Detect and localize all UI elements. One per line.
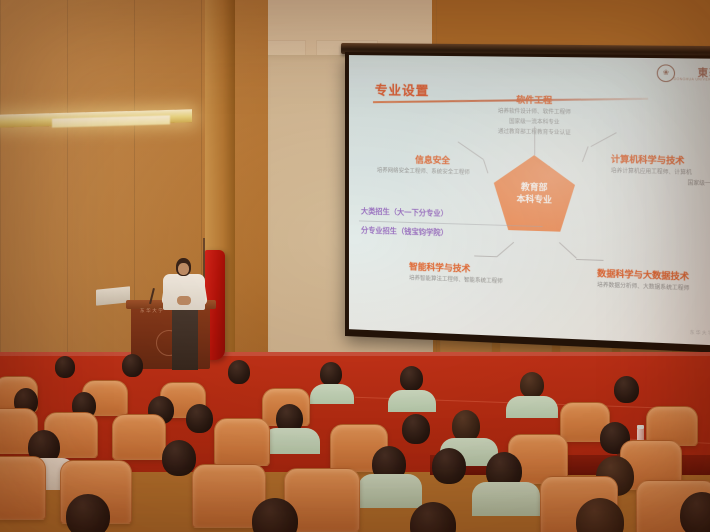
pentagon-line-2: 本科专业 bbox=[517, 193, 552, 207]
speaker-face bbox=[178, 263, 189, 275]
connector-lower-left bbox=[474, 255, 497, 257]
podium-label: 东华大学 bbox=[140, 308, 164, 314]
node-intelligent-science: 智能科学与技术 培养智能算法工程师、智能系统工程师 bbox=[409, 260, 542, 287]
pentagon-line-1: 教育部 bbox=[521, 180, 548, 193]
screen-frame: 专业设置 ❀ 東華 DONGHUA UNIVERSITY 教育部 本科专业 bbox=[345, 52, 710, 353]
audience-head bbox=[162, 440, 196, 476]
connector-lower-right bbox=[559, 242, 577, 258]
speaker-hands bbox=[177, 296, 191, 305]
admission-note-bulk: 大类招生（大一下分专业） bbox=[361, 206, 448, 219]
audience-shoulders bbox=[310, 384, 354, 404]
university-seal-icon: ❀ bbox=[657, 64, 675, 82]
node-desc-line: 培养数据分析师、大数据系统工程师 bbox=[597, 281, 710, 295]
audience-head bbox=[66, 494, 110, 532]
connector-lower-right-arm bbox=[576, 259, 603, 261]
audience-shoulders bbox=[506, 396, 558, 418]
node-computer-science: 计算机科学与技术 培养计算机应用工程师、计算机 国家级一流本科专业 bbox=[611, 153, 710, 190]
audience-seat bbox=[112, 414, 166, 460]
connector-upper-right bbox=[582, 146, 589, 162]
node-desc-line: 培养软件设计师、软件工程师 bbox=[462, 106, 608, 117]
audience-head bbox=[400, 366, 423, 391]
node-title: 计算机科学与技术 bbox=[611, 153, 710, 168]
audience-seat bbox=[214, 418, 270, 466]
node-information-security: 信息安全 培养网络安全工程师、系统安全工程师 bbox=[377, 153, 499, 178]
node-title: 软件工程 bbox=[462, 93, 608, 107]
university-logo-subtitle: DONGHUA UNIVERSITY bbox=[674, 77, 710, 82]
slide-title: 专业设置 bbox=[375, 79, 429, 99]
center-pentagon-node: 教育部 本科专业 bbox=[494, 154, 575, 232]
node-desc-line: 国家级一流本科专业 bbox=[611, 177, 710, 189]
slide-canvas: 专业设置 ❀ 東華 DONGHUA UNIVERSITY 教育部 本科专业 bbox=[349, 55, 710, 346]
projection-screen: 专业设置 ❀ 東華 DONGHUA UNIVERSITY 教育部 本科专业 bbox=[345, 52, 710, 353]
audience-shoulders bbox=[262, 428, 320, 454]
audience-shoulders bbox=[472, 482, 540, 516]
audience-shoulders bbox=[358, 474, 422, 508]
node-desc-line: 通过教育部工程教育专业认证 bbox=[462, 127, 608, 139]
audience-shoulders bbox=[388, 390, 436, 412]
node-title: 信息安全 bbox=[415, 154, 499, 168]
admission-note-major: 分专业招生（钱宝钧学院） bbox=[361, 225, 448, 238]
audience-head bbox=[432, 448, 466, 484]
audience-head bbox=[186, 404, 213, 433]
audience-head bbox=[614, 376, 639, 403]
connector-lower-left-arm bbox=[497, 242, 515, 257]
audience-seating bbox=[0, 352, 710, 532]
slide-watermark: 东华大学 bbox=[690, 330, 710, 337]
node-desc-line: 培养网络安全工程师、系统安全工程师 bbox=[377, 166, 499, 178]
node-data-science: 数据科学与大数据技术 培养数据分析师、大数据系统工程师 bbox=[597, 267, 710, 295]
audience-head bbox=[402, 414, 430, 444]
audience-seat bbox=[0, 456, 46, 520]
lecture-hall-photo: 专业设置 ❀ 東華 DONGHUA UNIVERSITY 教育部 本科专业 bbox=[0, 0, 710, 532]
node-software-engineering: 软件工程 培养软件设计师、软件工程师 国家级一流本科专业 通过教育部工程教育专业… bbox=[462, 93, 608, 139]
audience-head bbox=[55, 356, 75, 378]
audience-head bbox=[122, 354, 143, 377]
audience-head bbox=[320, 362, 342, 386]
audience-head bbox=[520, 372, 544, 398]
audience-head bbox=[228, 360, 250, 384]
